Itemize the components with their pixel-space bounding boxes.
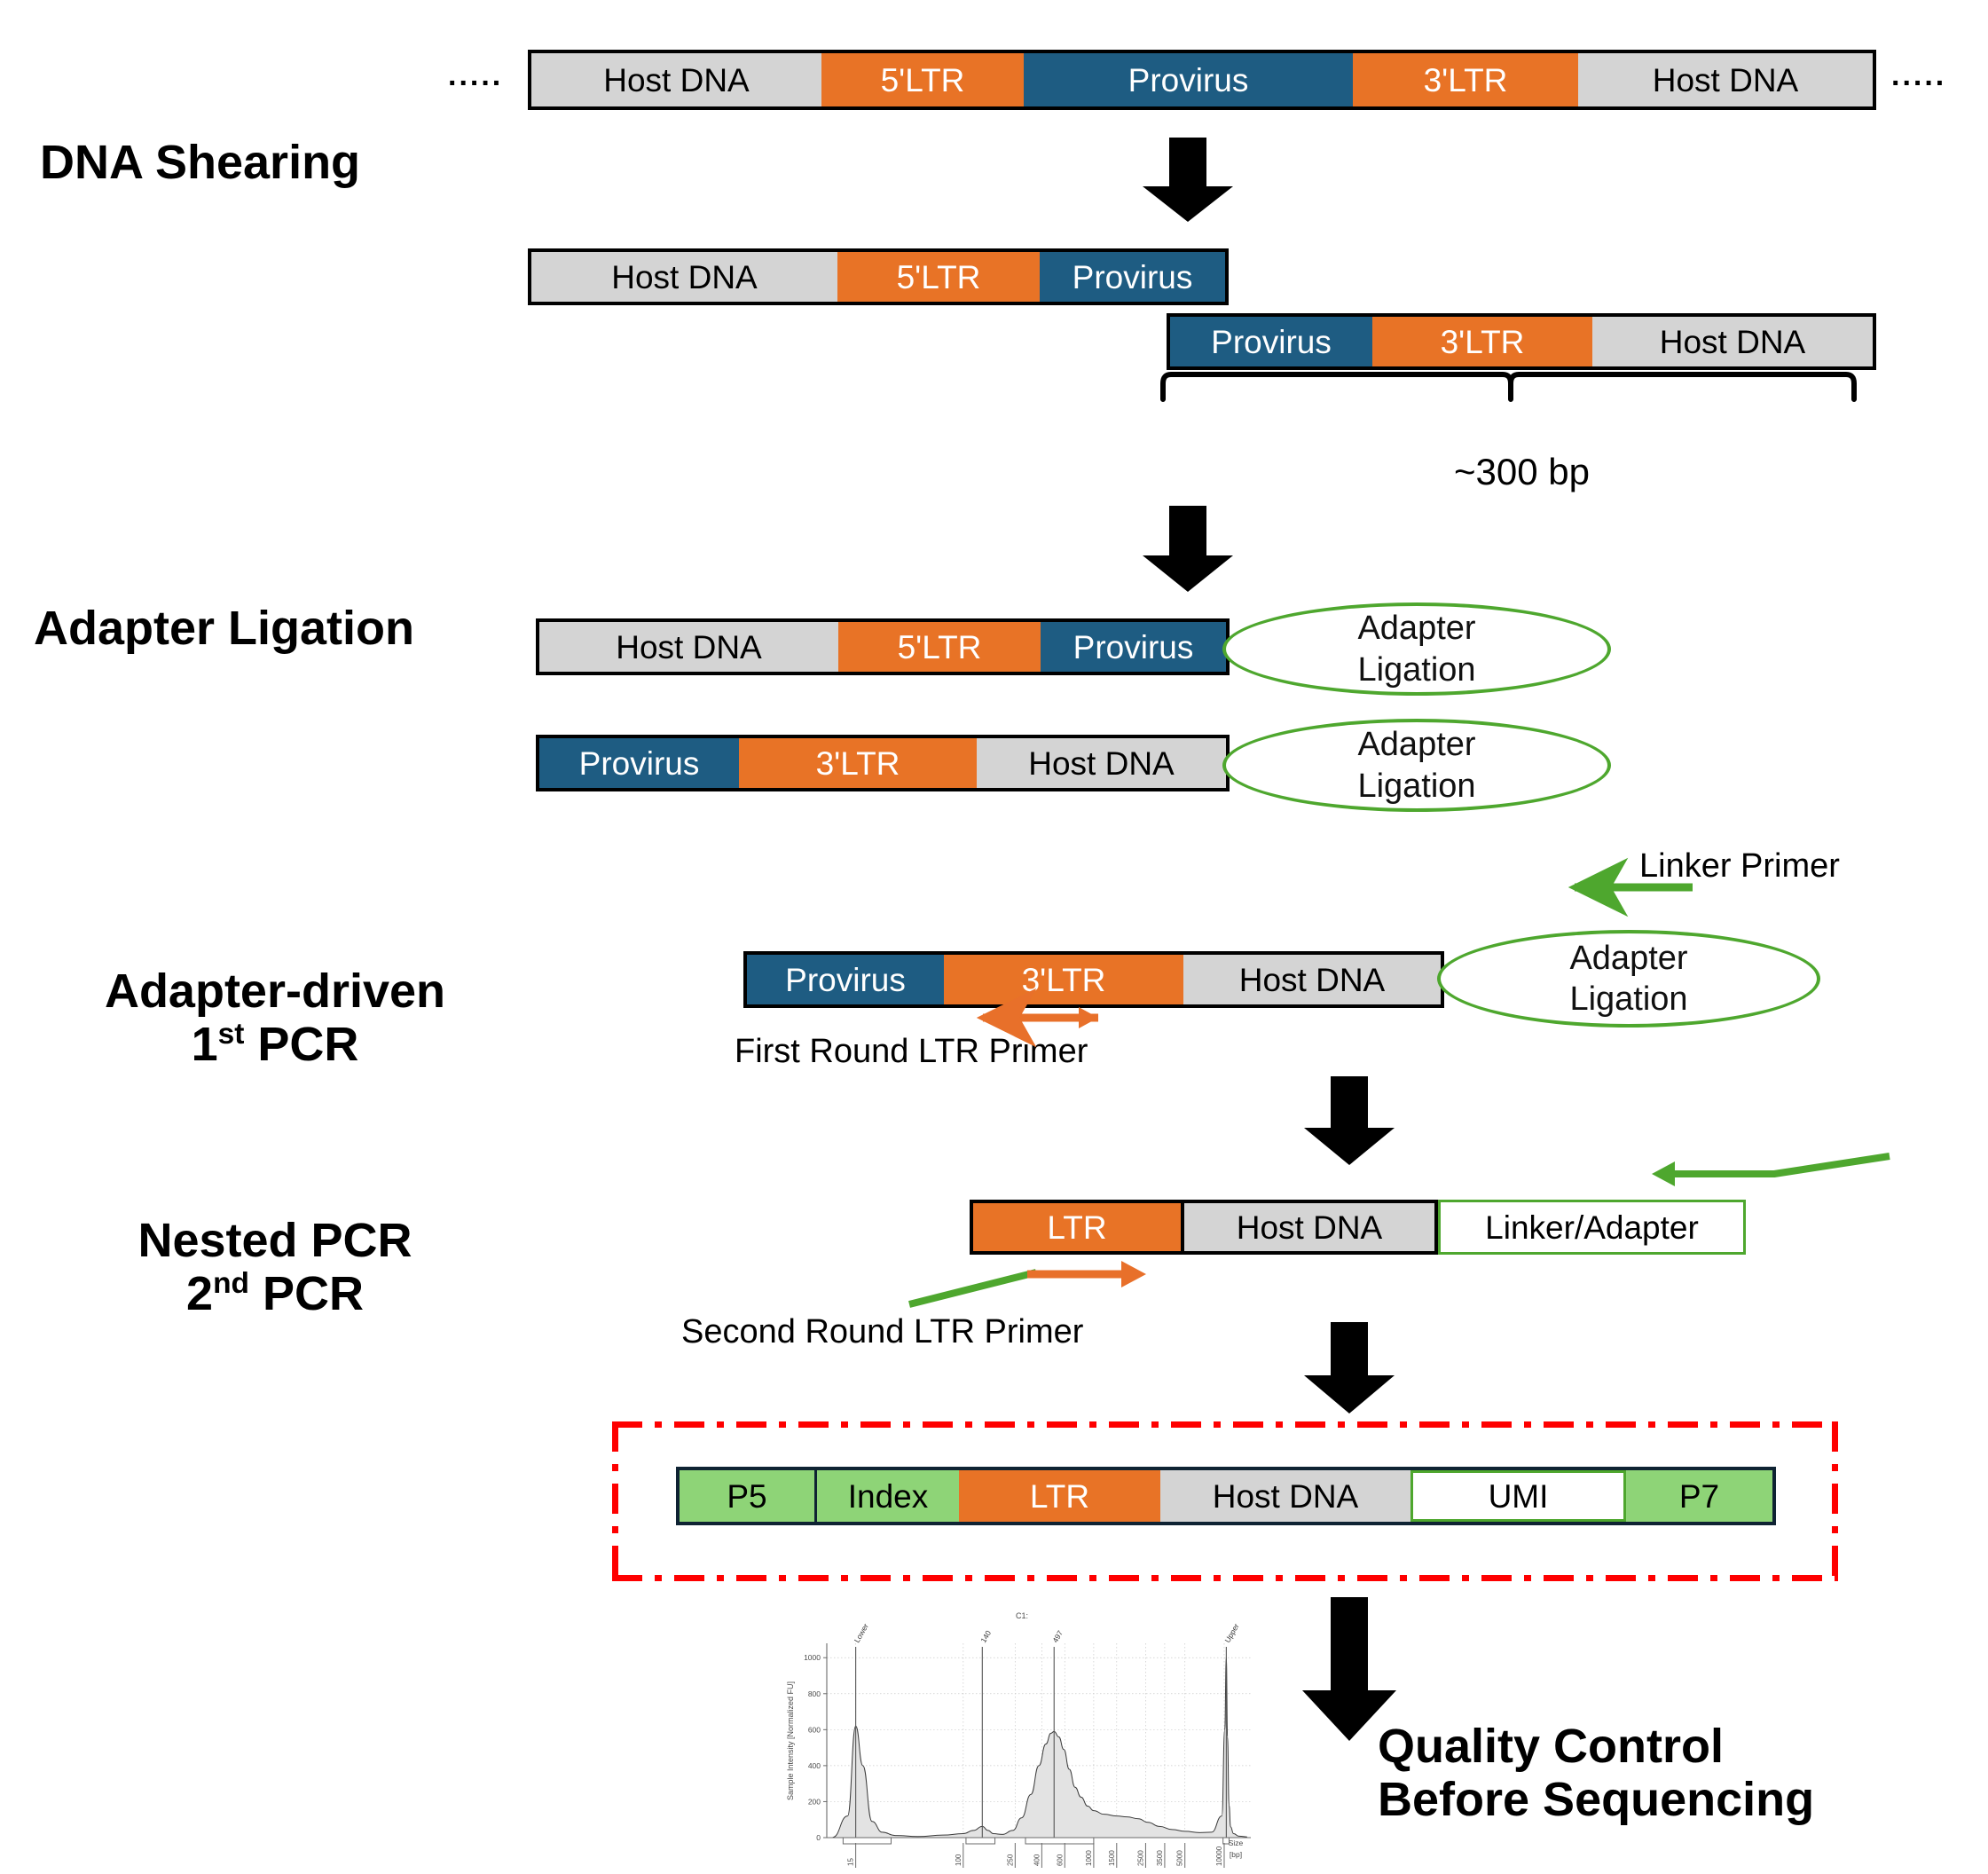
arrow-down-shearing	[1143, 138, 1233, 222]
segment-p7: P7	[1626, 1470, 1772, 1522]
segment-ltr: LTR	[959, 1470, 1160, 1522]
svg-text:600: 600	[808, 1725, 821, 1734]
adapter-ligation-line-1: Adapter	[1357, 608, 1475, 649]
segment-host-dna: Host DNA	[977, 738, 1226, 788]
svg-text:1500: 1500	[1108, 1850, 1116, 1866]
svg-text:1000: 1000	[804, 1653, 821, 1662]
svg-text:5000: 5000	[1176, 1850, 1184, 1866]
segment-index: Index	[817, 1470, 959, 1522]
construct-sheared-left: Host DNA 5'LTR Provirus	[528, 248, 1229, 305]
second-round-primer-arrowhead	[1121, 1261, 1146, 1287]
segment-host-dna: Host DNA	[1181, 1200, 1438, 1255]
adapter-ligation-line-1: Adapter	[1569, 938, 1687, 979]
svg-text:400: 400	[1033, 1854, 1041, 1866]
nested-linker-primer-arrowhead	[1652, 1161, 1675, 1186]
svg-text:10000: 10000	[1215, 1846, 1223, 1866]
segment-provirus: Provirus	[747, 955, 944, 1004]
svg-text:200: 200	[808, 1797, 821, 1806]
svg-text:15: 15	[847, 1858, 855, 1866]
segment-host-dna: Host DNA	[1160, 1470, 1410, 1522]
segment-3-ltr: 3'LTR	[1353, 53, 1578, 106]
segment-linker-adapter: Linker/Adapter	[1438, 1200, 1746, 1255]
segment-5-ltr: 5'LTR	[837, 252, 1040, 302]
figure-canvas: ..... Host DNA 5'LTR Provirus 3'LTR Host…	[0, 0, 1988, 1874]
segment-5-ltr: 5'LTR	[821, 53, 1024, 106]
segment-host-dna: Host DNA	[1183, 955, 1441, 1004]
pcr-word: PCR	[249, 1267, 364, 1320]
segment-ltr: LTR	[970, 1200, 1181, 1255]
stage-label-line-1: Adapter-driven	[58, 965, 492, 1018]
stage-label-adapter-ligation: Adapter Ligation	[34, 602, 414, 655]
segment-provirus: Provirus	[539, 738, 739, 788]
segment-host-dna: Host DNA	[539, 622, 838, 672]
segment-host-dna: Host DNA	[1592, 317, 1873, 366]
construct-genomic: Host DNA 5'LTR Provirus 3'LTR Host DNA	[528, 50, 1876, 110]
ordinal-suffix: st	[218, 1018, 245, 1051]
adapter-ligation-bubble-bottom: Adapter Ligation	[1222, 719, 1611, 812]
stage-label-dna-shearing: DNA Shearing	[40, 136, 360, 189]
segment-provirus: Provirus	[1040, 252, 1225, 302]
segment-p5: P5	[680, 1470, 817, 1522]
quality-control-line-2: Before Sequencing	[1378, 1773, 1814, 1826]
adapter-ligation-line-1: Adapter	[1357, 724, 1475, 765]
chart-xlabel-line2: [bp]	[1230, 1850, 1242, 1859]
svg-text:600: 600	[1056, 1854, 1064, 1866]
segment-provirus: Provirus	[1041, 622, 1226, 672]
segment-5-ltr: 5'LTR	[838, 622, 1041, 672]
chart-xlabel-line1: Size	[1229, 1839, 1244, 1847]
adapter-ligation-line-2: Ligation	[1357, 766, 1475, 807]
construct-final-library: P5 Index LTR Host DNA UMI P7	[676, 1467, 1776, 1525]
second-round-primer-label: Second Round LTR Primer	[681, 1313, 1083, 1352]
fragment-size-label: ~300 bp	[1454, 451, 1590, 493]
quality-control-label: Quality Control Before Sequencing	[1378, 1720, 1814, 1827]
svg-text:1000: 1000	[1085, 1850, 1093, 1866]
chart-title: C1:	[1016, 1611, 1028, 1620]
construct-ligated-bottom: Provirus 3'LTR Host DNA	[536, 735, 1230, 791]
adapter-ligation-bubble-pcr1: Adapter Ligation	[1437, 930, 1820, 1028]
fragment-size-bracket	[1163, 374, 1854, 399]
second-round-ltr-primer-arrow	[909, 1272, 1125, 1304]
svg-text:0: 0	[816, 1833, 821, 1842]
svg-text:250: 250	[1006, 1854, 1014, 1866]
svg-text:100: 100	[955, 1854, 963, 1866]
segment-provirus: Provirus	[1170, 317, 1372, 366]
adapter-ligation-bubble-top: Adapter Ligation	[1222, 602, 1611, 696]
segment-3-ltr: 3'LTR	[1372, 317, 1592, 366]
svg-text:3500: 3500	[1156, 1850, 1164, 1866]
svg-text:2500: 2500	[1136, 1850, 1144, 1866]
stage-label-adapter-driven-pcr: Adapter-driven 1st PCR	[58, 965, 492, 1072]
quality-control-line-1: Quality Control	[1378, 1720, 1814, 1773]
segment-3-ltr: 3'LTR	[944, 955, 1183, 1004]
adapter-ligation-line-2: Ligation	[1569, 979, 1687, 1020]
chart-ylabel: Sample Intensity [Normalized FU]	[786, 1681, 795, 1800]
adapter-ligation-line-2: Ligation	[1357, 650, 1475, 690]
nested-linker-primer-arrow	[1670, 1156, 1890, 1174]
pcr-word: PCR	[244, 1018, 358, 1071]
ordinal-number: 2	[186, 1267, 213, 1320]
genomic-left-ellipsis: .....	[448, 60, 503, 91]
segment-provirus: Provirus	[1024, 53, 1353, 106]
segment-umi: UMI	[1410, 1470, 1626, 1522]
genomic-right-ellipsis: .....	[1891, 60, 1946, 91]
segment-host-dna: Host DNA	[531, 53, 821, 106]
stage-label-line-2: 1st PCR	[58, 1018, 492, 1071]
ordinal-suffix: nd	[213, 1267, 249, 1300]
stage-label-nested-pcr: Nested PCR 2nd PCR	[58, 1214, 492, 1321]
construct-sheared-right: Provirus 3'LTR Host DNA	[1167, 313, 1876, 370]
ordinal-number: 1	[192, 1018, 218, 1071]
segment-host-dna-right: Host DNA	[1578, 53, 1873, 106]
arrow-down-to-final-library	[1304, 1322, 1395, 1413]
stage-label-line-2: 2nd PCR	[58, 1267, 492, 1320]
construct-pcr2-product: LTR Host DNA Linker/Adapter	[970, 1200, 1746, 1255]
construct-ligated-top: Host DNA 5'LTR Provirus	[536, 618, 1230, 675]
first-round-ltr-primer-arrow	[983, 1007, 1098, 1028]
arrow-down-to-nested-pcr	[1304, 1076, 1395, 1165]
segment-3-ltr: 3'LTR	[739, 738, 977, 788]
construct-pcr1-template: Provirus 3'LTR Host DNA	[743, 951, 1444, 1008]
svg-text:800: 800	[808, 1689, 821, 1698]
arrow-down-to-ligation	[1143, 506, 1233, 592]
bioanalyzer-electropherogram: C1: Sample Intensity [Normalized FU] Siz…	[781, 1608, 1264, 1870]
first-round-primer-label: First Round LTR Primer	[735, 1033, 1088, 1072]
stage-label-line-1: Nested PCR	[58, 1214, 492, 1267]
segment-host-dna: Host DNA	[531, 252, 837, 302]
linker-primer-label: Linker Primer	[1639, 847, 1840, 886]
svg-text:400: 400	[808, 1761, 821, 1770]
